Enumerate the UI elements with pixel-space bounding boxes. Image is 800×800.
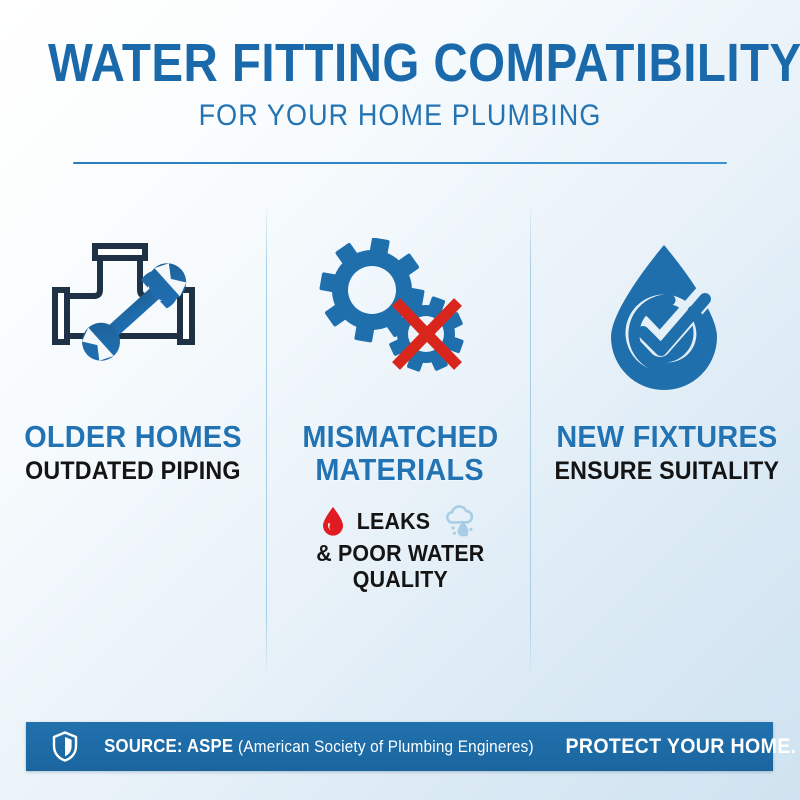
column-heading: OLDER HOMES (24, 420, 242, 453)
column-heading: NEW FIXTURES (556, 420, 777, 453)
footer-source-text: SOURCE: ASPE (American Society of Plumbi… (104, 736, 534, 757)
rain-cloud-icon (441, 505, 479, 537)
footer-call-to-action: PROTECT YOUR HOME. CHOOSE WISELY! (565, 735, 800, 758)
water-drop-check-icon-wrap (592, 205, 742, 420)
shield-icon (52, 731, 78, 762)
mismatched-gears-icon (310, 238, 490, 388)
page-title: WATER FITTING COMPATIBILITY (48, 34, 752, 92)
pipe-wrench-icon (43, 238, 223, 388)
leak-detail-line2: & POOR WATER QUALITY (276, 540, 524, 592)
footer-source-detail: (American Society of Plumbing Engineres) (238, 738, 534, 756)
columns-section: OLDER HOMES OUTDATED PIPING (0, 205, 800, 675)
column-mismatched-materials: MISMATCHED MATERIALS LEAKS (267, 205, 534, 675)
footer-source-label: SOURCE: ASPE (104, 736, 233, 756)
column-heading: MISMATCHED (302, 420, 498, 453)
column-subheading: OUTDATED PIPING (26, 457, 241, 485)
leak-label: LEAKS (356, 509, 429, 534)
infographic-poster: WATER FITTING COMPATIBILITY FOR YOUR HOM… (0, 0, 800, 800)
footer-bar: SOURCE: ASPE (American Society of Plumbi… (26, 722, 773, 771)
column-older-homes: OLDER HOMES OUTDATED PIPING (0, 205, 267, 675)
footer-source-group: SOURCE: ASPE (American Society of Plumbi… (52, 731, 550, 762)
page-subtitle: FOR YOUR HOME PLUMBING (40, 99, 760, 133)
red-water-drop-icon (321, 506, 345, 536)
mismatched-gears-icon-wrap (310, 205, 490, 420)
column-subheading: ENSURE SUITALITY (554, 457, 779, 485)
leak-detail-row: LEAKS (321, 505, 480, 537)
pipe-wrench-icon-wrap (43, 205, 223, 420)
header: WATER FITTING COMPATIBILITY FOR YOUR HOM… (0, 34, 800, 133)
column-heading-line2: MATERIALS (316, 453, 485, 486)
column-new-fixtures: NEW FIXTURES ENSURE SUITALITY (533, 205, 800, 675)
header-divider-rule (73, 162, 727, 164)
water-drop-check-icon (592, 233, 742, 393)
